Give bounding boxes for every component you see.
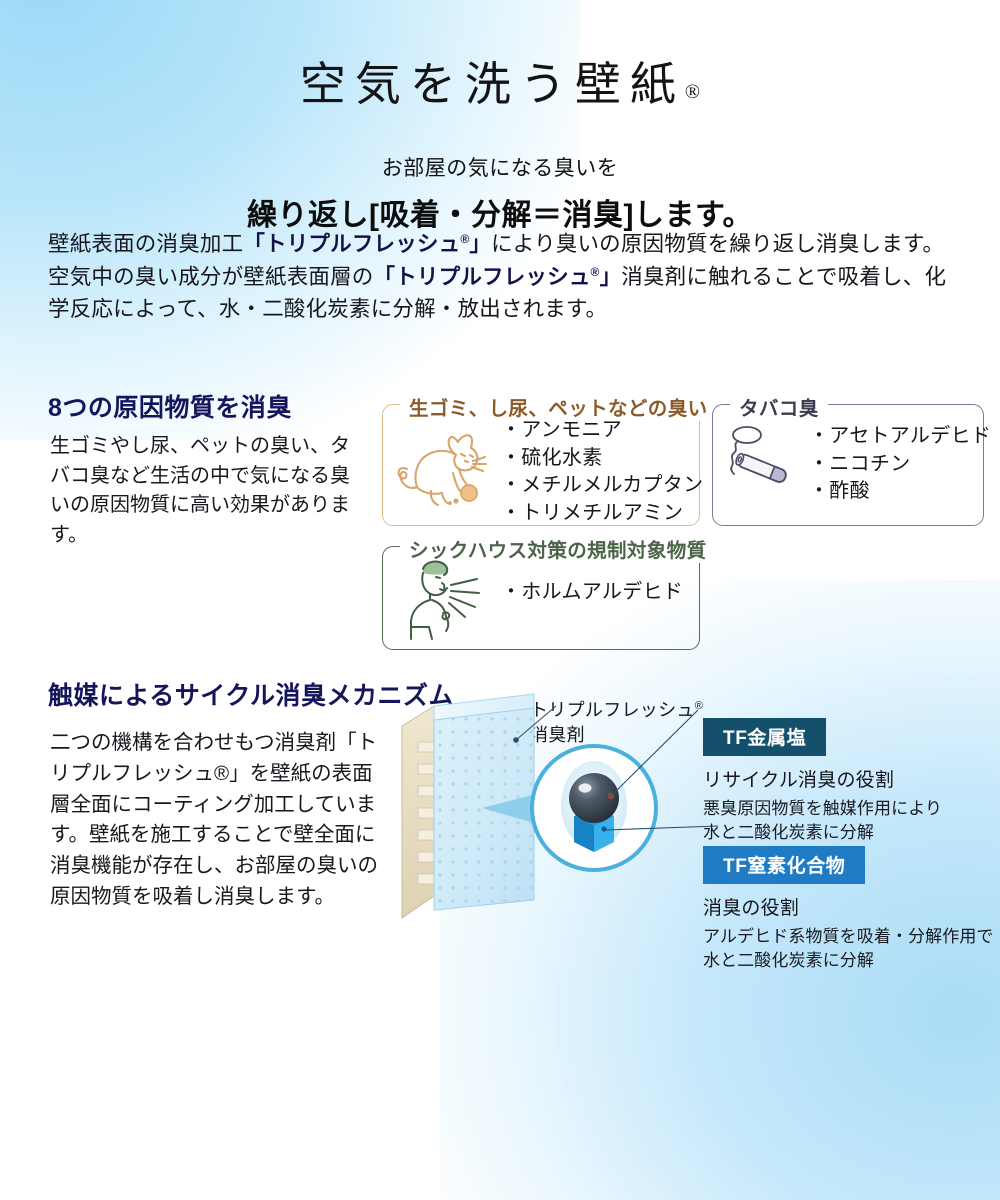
registered-mark: ® xyxy=(685,81,700,103)
callout-tf-nitrogen-compound: TF窒素化合物 消臭の役割 アルデヒド系物質を吸着・分解作用で 水と二酸化炭素に… xyxy=(703,846,994,973)
wallpaper-cross-section-diagram xyxy=(398,690,718,960)
brand-2-registered: ® xyxy=(591,265,600,279)
hero-header: 空気を洗う壁紙® お部屋の気になる臭いを 繰り返し[吸着・分解＝消臭]します。 xyxy=(0,0,1000,234)
mechanism-section-body: 二つの機構を合わせもつ消臭剤「トリプルフレッシュ®」を壁紙の表面層全面にコーティ… xyxy=(50,728,380,913)
odor-section-heading: 8つの原因物質を消臭 xyxy=(48,388,292,424)
tf-nitrogen-compound-role: 消臭の役割 xyxy=(703,893,994,920)
tf-metal-salt-desc-line-2: 水と二酸化炭素に分解 xyxy=(703,823,874,842)
cigarette-icon xyxy=(721,421,805,505)
magnified-molecule-view xyxy=(532,746,656,870)
tf-metal-salt-role: リサイクル消臭の役割 xyxy=(703,765,942,792)
odor-box-tobacco-list: ・アセトアルデヒド ・ニコチン ・酢酸 xyxy=(809,423,991,506)
coughing-man-icon xyxy=(399,555,499,643)
page-title: 空気を洗う壁紙® xyxy=(0,48,1000,114)
tf-nitrogen-compound-desc: アルデヒド系物質を吸着・分解作用で 水と二酸化炭素に分解 xyxy=(703,925,994,973)
leader-dot-surface xyxy=(513,737,519,743)
tf-metal-sphere xyxy=(569,773,619,823)
mechanism-section-heading: 触媒によるサイクル消臭メカニズム xyxy=(48,676,454,712)
list-item: ・ニコチン xyxy=(809,451,991,479)
list-item: ・ホルムアルデヒド xyxy=(501,579,683,607)
brand-name-2: 「トリプルフレッシュ®」 xyxy=(374,265,622,289)
brand-name-2-text: 「トリプルフレッシュ xyxy=(374,265,591,289)
list-item: ・トリメチルアミン xyxy=(501,500,703,528)
tf-metal-salt-desc-line-1: 悪臭原因物質を触媒作用により xyxy=(703,799,942,818)
brand-2-close: 」 xyxy=(600,265,622,289)
intro-paragraph: 壁紙表面の消臭加工「トリプルフレッシュ®」により臭いの原因物質を繰り返し消臭しま… xyxy=(48,228,954,326)
callout-tf-metal-salt: TF金属塩 リサイクル消臭の役割 悪臭原因物質を触媒作用により 水と二酸化炭素に… xyxy=(703,718,942,845)
brand-1-close: 」 xyxy=(469,232,491,256)
odor-box-tobacco: タバコ臭 ・アセトアルデヒド ・ニコチン ・酢酸 xyxy=(712,404,984,526)
list-item: ・酢酸 xyxy=(809,478,991,506)
odor-box-garbage-pet-list: ・アンモニア ・硫化水素 ・メチルメルカプタン ・トリメチルアミン xyxy=(501,417,703,527)
list-item: ・メチルメルカプタン xyxy=(501,472,703,500)
odor-section-body: 生ゴミやし尿、ペットの臭い、タバコ臭など生活の中で気になる臭いの原因物質に高い効… xyxy=(50,432,362,550)
odor-box-sick-house: シックハウス対策の規制対象物質 xyxy=(382,546,700,650)
tf-nitrogen-compound-desc-line-1: アルデヒド系物質を吸着・分解作用で xyxy=(703,927,994,946)
intro-part-1: 壁紙表面の消臭加工 xyxy=(48,232,243,256)
odor-box-garbage-pet: 生ゴミ、し尿、ペットなどの臭い xyxy=(382,404,700,526)
tf-metal-salt-desc: 悪臭原因物質を触媒作用により 水と二酸化炭素に分解 xyxy=(703,797,942,845)
odor-box-tobacco-legend: タバコ臭 xyxy=(730,392,828,421)
list-item: ・アセトアルデヒド xyxy=(809,423,991,451)
list-item: ・硫化水素 xyxy=(501,445,703,473)
page-title-text: 空気を洗う壁紙 xyxy=(300,59,685,110)
subtitle-line-1: お部屋の気になる臭いを xyxy=(0,152,1000,182)
list-item: ・アンモニア xyxy=(501,417,703,445)
brand-name-1: 「トリプルフレッシュ®」 xyxy=(243,232,491,256)
odor-box-sick-house-list: ・ホルムアルデヒド xyxy=(501,579,683,607)
tf-nitrogen-compound-desc-line-2: 水と二酸化炭素に分解 xyxy=(703,951,874,970)
tf-nitrogen-compound-chip: TF窒素化合物 xyxy=(703,846,865,884)
tf-metal-salt-chip: TF金属塩 xyxy=(703,718,826,756)
cat-icon xyxy=(393,423,497,515)
brand-name-1-text: 「トリプルフレッシュ xyxy=(243,232,460,256)
